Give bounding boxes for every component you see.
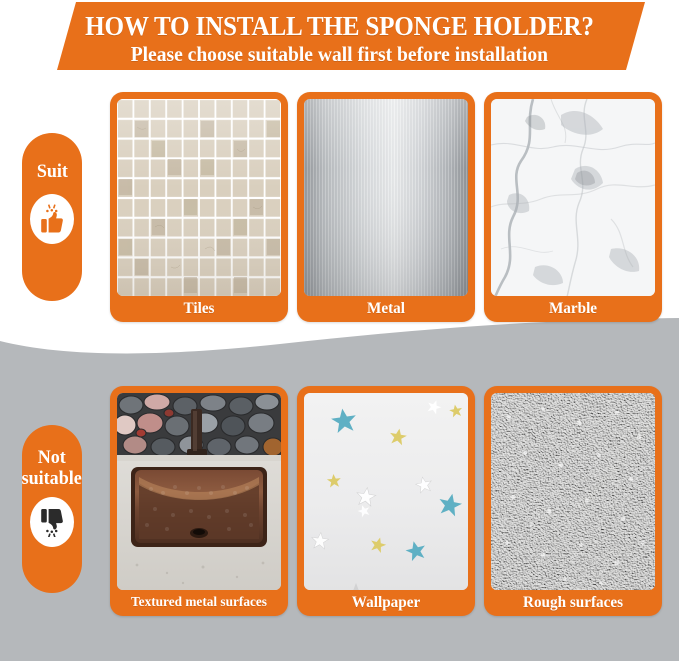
thumbs-up-icon-container bbox=[30, 194, 74, 244]
thumbs-up-icon bbox=[39, 204, 65, 234]
panel-tiles-label: Tiles bbox=[121, 296, 277, 322]
brushed-metal-texture bbox=[304, 99, 468, 296]
panel-metal-label: Metal bbox=[308, 296, 464, 322]
panel-textured-metal-image bbox=[117, 393, 281, 590]
panel-wallpaper-image bbox=[304, 393, 468, 590]
page-title: HOW TO INSTALL THE SPONGE HOLDER? bbox=[85, 12, 594, 41]
panel-wallpaper-label: Wallpaper bbox=[308, 590, 464, 616]
panel-marble[interactable]: Marble bbox=[484, 92, 662, 322]
badge-not-suitable-label-line1: Not bbox=[38, 447, 66, 468]
thumbs-down-icon-container bbox=[30, 497, 74, 547]
copper-sink-texture bbox=[117, 393, 281, 590]
panel-textured-metal[interactable]: Textured metal surfaces bbox=[110, 386, 288, 616]
panel-rough-surfaces-image bbox=[491, 393, 655, 590]
marble-texture bbox=[491, 99, 655, 296]
thumbs-down-icon bbox=[39, 507, 65, 537]
panel-metal[interactable]: Metal bbox=[297, 92, 475, 322]
panel-tiles[interactable]: Tiles bbox=[110, 92, 288, 322]
panel-wallpaper[interactable]: Wallpaper bbox=[297, 386, 475, 616]
badge-suit-label: Suit bbox=[36, 161, 67, 182]
infographic-canvas: HOW TO INSTALL THE SPONGE HOLDER? Please… bbox=[0, 0, 679, 661]
header-banner: HOW TO INSTALL THE SPONGE HOLDER? Please… bbox=[0, 0, 679, 78]
panel-metal-image bbox=[304, 99, 468, 296]
badge-not-suitable-label-line2: suitable bbox=[22, 468, 82, 489]
star-wallpaper-texture bbox=[304, 393, 468, 590]
page-subtitle: Please choose suitable wall first before… bbox=[131, 42, 548, 66]
panel-tiles-image bbox=[117, 99, 281, 296]
panel-textured-metal-label: Textured metal surfaces bbox=[121, 590, 277, 616]
badge-suit: Suit bbox=[22, 133, 82, 301]
panel-marble-image bbox=[491, 99, 655, 296]
panel-marble-label: Marble bbox=[495, 296, 651, 322]
panel-rough-surfaces-label: Rough surfaces bbox=[495, 590, 651, 616]
panel-rough-surfaces[interactable]: Rough surfaces bbox=[484, 386, 662, 616]
mosaic-tile-texture bbox=[117, 99, 281, 296]
rough-stucco-texture bbox=[491, 393, 655, 590]
badge-not-suitable: Not suitable bbox=[22, 425, 82, 593]
